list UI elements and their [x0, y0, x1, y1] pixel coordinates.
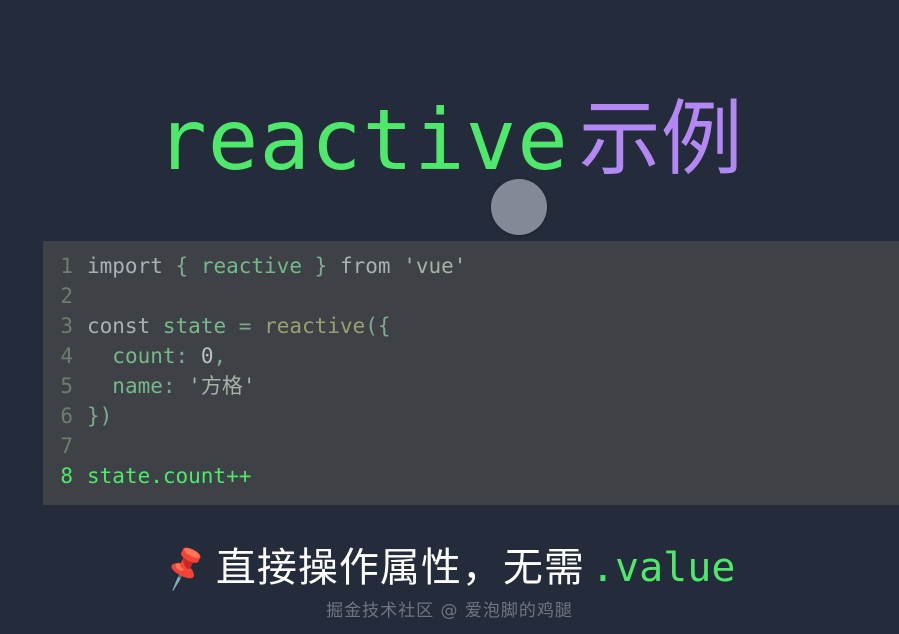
caption-code-token: .value: [591, 548, 736, 588]
code-token: {: [176, 254, 189, 278]
code-token: reactive: [264, 314, 365, 338]
code-token: [251, 314, 264, 338]
code-token: ({: [365, 314, 390, 338]
code-token: [327, 254, 340, 278]
code-line: 5 name: '方格': [43, 371, 899, 401]
code-token: [188, 254, 201, 278]
code-line-text: }): [87, 401, 112, 431]
code-token: [176, 374, 189, 398]
line-number: 5: [43, 371, 87, 401]
caption: 📌 直接操作属性，无需 .value: [0, 540, 899, 596]
code-token: [163, 254, 176, 278]
code-token: }): [87, 404, 112, 428]
touch-point-indicator: [491, 179, 547, 235]
code-line: 1import { reactive } from 'vue': [43, 251, 899, 281]
code-lines: 1import { reactive } from 'vue'23const s…: [43, 251, 899, 491]
code-line-text: name: '方格': [87, 371, 255, 401]
line-number: 6: [43, 401, 87, 431]
code-token: [87, 344, 112, 368]
code-token: }: [315, 254, 328, 278]
code-token: state: [163, 314, 226, 338]
code-line: 2: [43, 281, 899, 311]
code-token: '方格': [188, 374, 255, 398]
page-title: reactive 示例: [0, 86, 899, 194]
code-token: count: [112, 344, 175, 368]
code-line: 4 count: 0,: [43, 341, 899, 371]
code-line: 8state.count++: [43, 461, 899, 491]
code-token: [226, 314, 239, 338]
code-line: 3const state = reactive({: [43, 311, 899, 341]
code-token: :: [176, 344, 189, 368]
code-line-text: import { reactive } from 'vue': [87, 251, 466, 281]
code-line: 6}): [43, 401, 899, 431]
line-number: 3: [43, 311, 87, 341]
code-token: from: [340, 254, 391, 278]
code-line-text: state.count++: [87, 461, 251, 491]
code-token: 0: [201, 344, 214, 368]
slide-canvas: reactive 示例 1import { reactive } from 'v…: [0, 0, 899, 634]
line-number: 4: [43, 341, 87, 371]
code-line: 7: [43, 431, 899, 461]
line-number: 2: [43, 281, 87, 311]
caption-text: 直接操作属性，无需: [216, 548, 585, 588]
code-token: [302, 254, 315, 278]
code-token: name: [112, 374, 163, 398]
page-title-chinese: 示例: [579, 99, 743, 181]
code-line-text: count: 0,: [87, 341, 226, 371]
code-token: ,: [213, 344, 226, 368]
code-token: state.count++: [87, 464, 251, 488]
code-block[interactable]: 1import { reactive } from 'vue'23const s…: [43, 241, 899, 505]
code-token: [87, 374, 112, 398]
code-token: reactive: [201, 254, 302, 278]
code-token: [150, 314, 163, 338]
code-line-text: const state = reactive({: [87, 311, 391, 341]
page-title-english: reactive: [156, 98, 569, 182]
code-token: :: [163, 374, 176, 398]
line-number: 8: [43, 461, 87, 491]
code-token: =: [239, 314, 252, 338]
code-token: [188, 344, 201, 368]
line-number: 7: [43, 431, 87, 461]
line-number: 1: [43, 251, 87, 281]
pushpin-icon: 📌: [159, 545, 210, 590]
watermark: 掘金技术社区 @ 爱泡脚的鸡腿: [0, 596, 899, 621]
code-token: const: [87, 314, 150, 338]
code-token: 'vue': [403, 254, 466, 278]
code-token: import: [87, 254, 163, 278]
code-token: [391, 254, 404, 278]
